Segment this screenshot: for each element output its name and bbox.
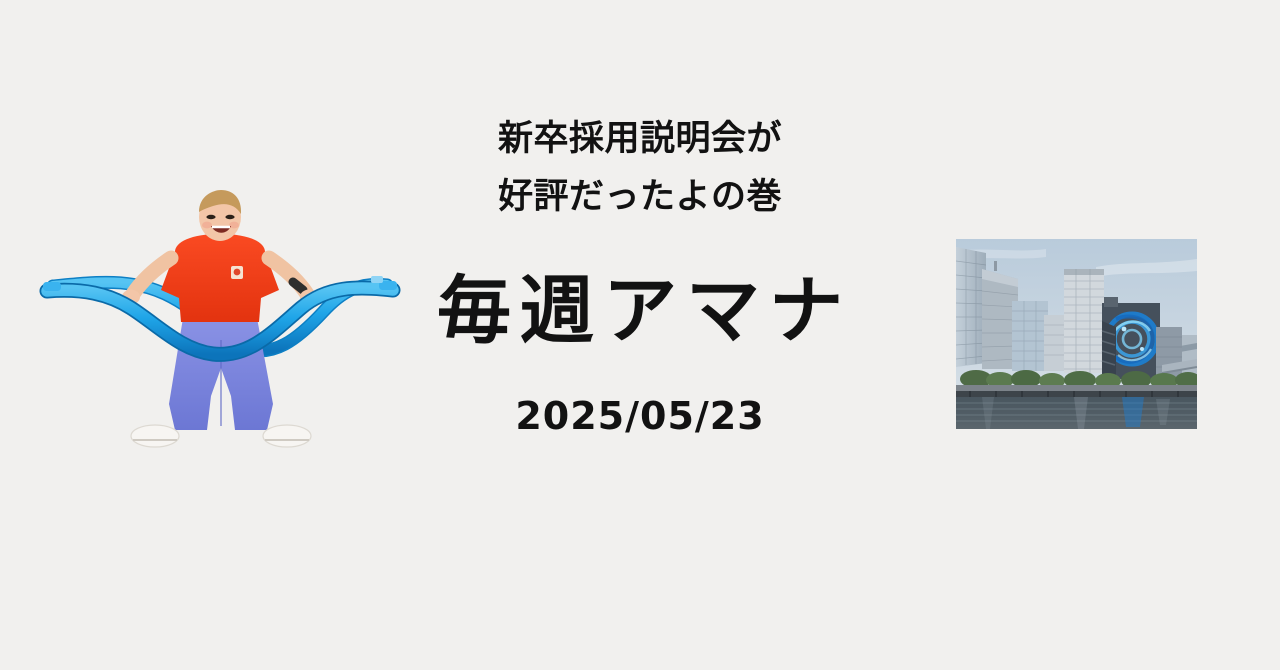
subtitle-line-2: 好評だったよの巻 bbox=[395, 168, 885, 226]
person-photo bbox=[35, 190, 405, 452]
center-text-block: 新卒採用説明会が 好評だったよの巻 毎週アマナ 2025/05/23 bbox=[395, 110, 885, 438]
shoe-left bbox=[131, 425, 179, 447]
cityscape-photo bbox=[956, 239, 1197, 429]
cityscape-photo-graphic bbox=[956, 239, 1197, 429]
shoe-right bbox=[263, 425, 311, 447]
tube-cap-left bbox=[43, 282, 61, 291]
wristband bbox=[293, 282, 303, 290]
banner-root: 新卒採用説明会が 好評だったよの巻 毎週アマナ 2025/05/23 bbox=[0, 0, 1280, 670]
subtitle-line-1: 新卒採用説明会が bbox=[395, 110, 885, 168]
publish-date: 2025/05/23 bbox=[395, 394, 885, 438]
page-title: 毎週アマナ bbox=[395, 270, 885, 352]
person-photo-graphic bbox=[35, 190, 405, 452]
